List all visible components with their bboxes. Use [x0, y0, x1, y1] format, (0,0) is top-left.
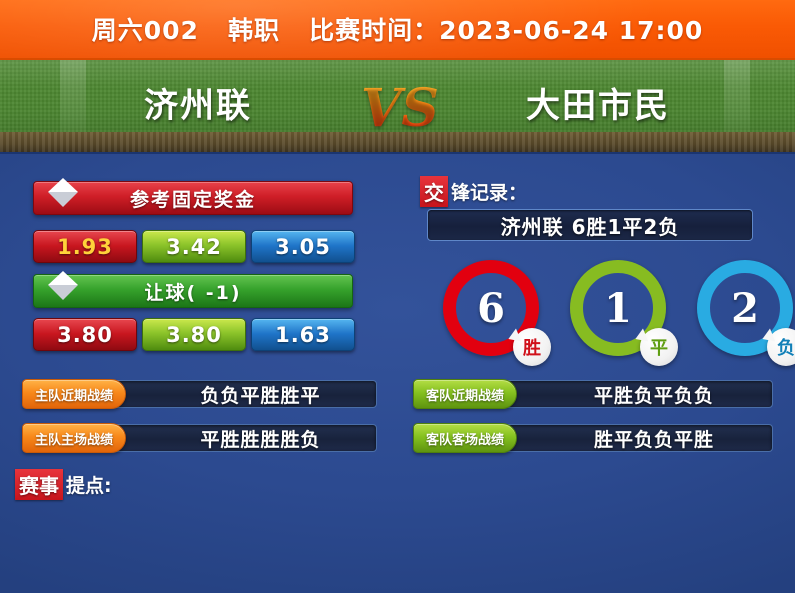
fixed-odds-home-value: 1.93	[57, 235, 113, 259]
h2h-ring-win: 6 胜	[443, 260, 539, 356]
handicap-odds-home[interactable]: 3.80	[33, 318, 137, 351]
home-home-form-tag: 主队主场战绩	[22, 423, 126, 453]
away-recent-form-row: 客队近期战绩 平胜负平负负	[413, 379, 773, 409]
handicap-header-label: 让球( -1)	[144, 278, 241, 305]
match-header-title: 周六002 韩职 比赛时间：2023-06-24 17:00	[92, 11, 704, 47]
home-recent-form-tag: 主队近期战绩	[22, 379, 126, 409]
handicap-odds-home-value: 3.80	[57, 323, 113, 347]
h2h-caption: 交 锋记录：	[420, 176, 527, 207]
analysis-caption-label: 提点:	[66, 471, 112, 498]
fixed-odds-header: 参考固定奖金	[33, 181, 353, 215]
versus-icon: VS	[355, 64, 445, 152]
match-header: 周六002 韩职 比赛时间：2023-06-24 17:00	[0, 0, 795, 60]
handicap-odds-away[interactable]: 1.63	[251, 318, 355, 351]
fixed-odds-header-label: 参考固定奖金	[130, 185, 256, 212]
analysis-tag: 赛事	[15, 469, 63, 500]
away-away-form-track: 胜平负负平胜	[485, 424, 773, 452]
away-away-form-value: 胜平负负平胜	[544, 425, 714, 452]
handicap-odds-draw-value: 3.80	[166, 323, 222, 347]
home-home-form-row: 主队主场战绩 平胜胜胜胜负	[22, 423, 377, 453]
diamond-icon	[48, 178, 78, 208]
away-recent-form-track: 平胜负平负负	[485, 380, 773, 408]
h2h-ring-loss: 2 负	[697, 260, 793, 356]
analysis-caption: 赛事 提点:	[15, 469, 112, 500]
h2h-summary-text: 济州联 6胜1平2负	[501, 211, 680, 240]
handicap-odds-draw[interactable]: 3.80	[142, 318, 246, 351]
home-team-name: 济州联	[48, 78, 348, 127]
fixed-odds-home[interactable]: 1.93	[33, 230, 137, 263]
away-team-name: 大田市民	[448, 78, 748, 127]
away-recent-form-tag: 客队近期战绩	[413, 379, 517, 409]
home-recent-form-track: 负负平胜胜平	[94, 380, 377, 408]
fixed-odds-away-value: 3.05	[275, 235, 331, 259]
ring-win-badge: 胜	[513, 328, 551, 366]
handicap-odds-away-value: 1.63	[275, 323, 331, 347]
h2h-summary-bar: 济州联 6胜1平2负	[427, 209, 753, 241]
h2h-caption-label: 锋记录：	[451, 178, 527, 205]
away-away-form-row: 客队客场战绩 胜平负负平胜	[413, 423, 773, 453]
away-away-form-tag: 客队客场战绩	[413, 423, 517, 453]
handicap-header: 让球( -1)	[33, 274, 353, 308]
ring-loss-badge: 负	[767, 328, 795, 366]
fixed-odds-away[interactable]: 3.05	[251, 230, 355, 263]
fixed-odds-draw[interactable]: 3.42	[142, 230, 246, 263]
match-preview-card: 周六002 韩职 比赛时间：2023-06-24 17:00 济州联 VS 大田…	[0, 0, 795, 593]
home-home-form-track: 平胜胜胜胜负	[94, 424, 377, 452]
home-recent-form-value: 负负平胜胜平	[150, 381, 320, 408]
fixed-odds-draw-value: 3.42	[166, 235, 222, 259]
main-panel: 参考固定奖金 1.93 3.42 3.05 让球( -1) 3.80	[0, 152, 795, 593]
h2h-ring-draw: 1 平	[570, 260, 666, 356]
away-recent-form-value: 平胜负平负负	[544, 381, 714, 408]
home-recent-form-row: 主队近期战绩 负负平胜胜平	[22, 379, 377, 409]
diamond-icon	[48, 271, 78, 301]
h2h-tag: 交	[420, 176, 448, 207]
pitch-banner: 济州联 VS 大田市民	[0, 60, 795, 152]
ring-draw-badge: 平	[640, 328, 678, 366]
home-home-form-value: 平胜胜胜胜负	[150, 425, 320, 452]
